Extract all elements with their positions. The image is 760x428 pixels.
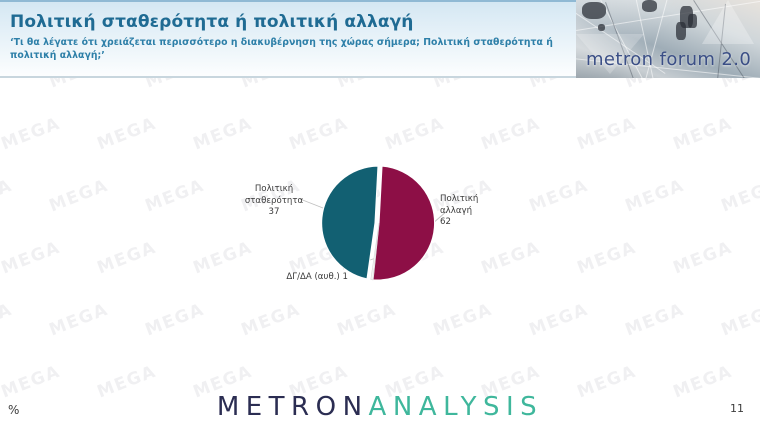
metron-forum-logo: metron forum 2.0 bbox=[576, 0, 760, 78]
pie-label-change: Πολιτική αλλαγή 62 bbox=[440, 194, 520, 229]
pie-label-stability-line1: Πολιτική bbox=[224, 184, 324, 196]
pie-label-change-value: 62 bbox=[440, 217, 520, 229]
chart-container: Πολιτική σταθερότητα 37 Πολιτική αλλαγή … bbox=[0, 78, 760, 380]
page-subtitle: ‘Τι θα λέγατε ότι χρειάζεται περισσότερο… bbox=[10, 37, 565, 62]
pie-label-dk-text: ΔΓ/ΔΑ (αυθ.) 1 bbox=[258, 272, 348, 284]
pie-label-change-line1: Πολιτική bbox=[440, 194, 520, 206]
slide-canvas: MEGAMEGAMEGAMEGAMEGAMEGAMEGAMEGAMEGAMEGA… bbox=[0, 0, 760, 428]
forum-logo-wordmark: metron forum 2.0 bbox=[586, 49, 751, 70]
pie-label-stability-value: 37 bbox=[224, 207, 324, 219]
pie-slice-stability[interactable] bbox=[322, 166, 378, 279]
pie-label-dk: ΔΓ/ΔΑ (αυθ.) 1 bbox=[258, 272, 348, 284]
brand-analysis: ANALYSIS bbox=[369, 392, 544, 422]
slide-footer: % METRONANALYSIS 11 bbox=[0, 380, 760, 428]
pie-label-change-line2: αλλαγή bbox=[440, 206, 520, 218]
pie-label-stability: Πολιτική σταθερότητα 37 bbox=[224, 184, 324, 219]
pie-slice-change[interactable] bbox=[373, 166, 435, 280]
brand-metron: METRON bbox=[217, 392, 369, 422]
page-number: 11 bbox=[730, 402, 744, 415]
pie-label-stability-line2: σταθερότητα bbox=[224, 196, 324, 208]
pie-chart bbox=[200, 138, 540, 328]
page-title: Πολιτική σταθερότητα ή πολιτική αλλαγή bbox=[10, 12, 570, 32]
metron-analysis-logo: METRONANALYSIS bbox=[0, 392, 760, 422]
